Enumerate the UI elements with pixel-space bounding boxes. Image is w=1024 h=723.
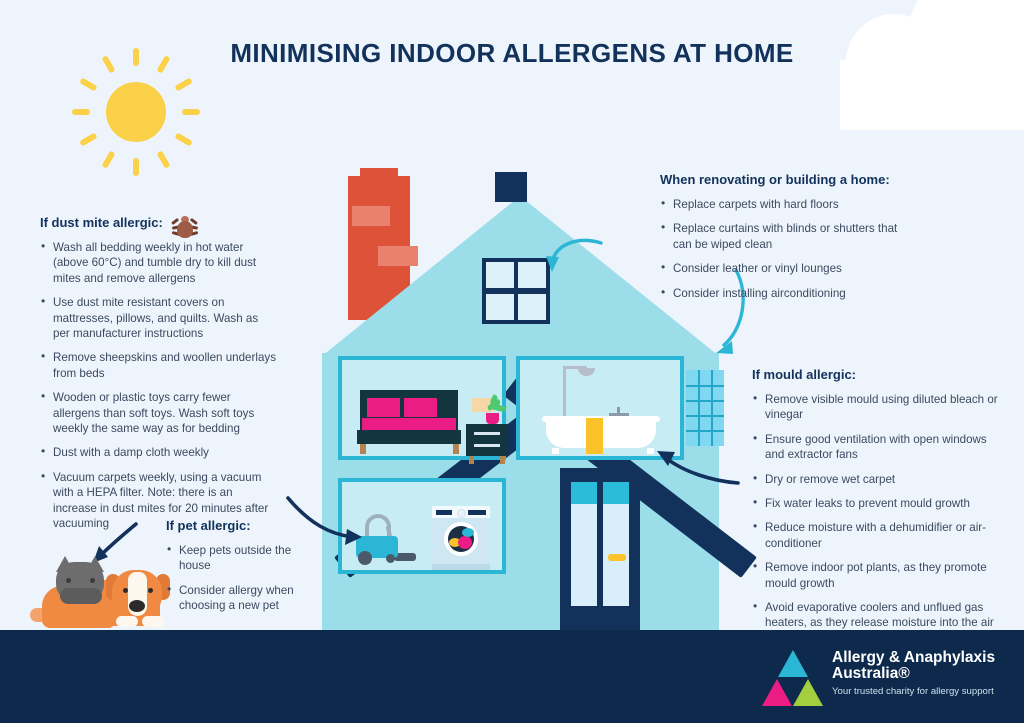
front-door xyxy=(560,468,640,630)
cat-eye xyxy=(66,578,71,583)
list-item: Fix water leaks to prevent mould growth xyxy=(752,496,1002,511)
list-item: Consider installing airconditioning xyxy=(660,286,910,301)
list-item: Consider leather or vinyl lounges xyxy=(660,261,910,276)
dust-mite-icon xyxy=(171,214,199,240)
washing-machine-button xyxy=(436,510,452,515)
door-glass-panel xyxy=(571,482,597,606)
pet-list: Keep pets outside the house Consider all… xyxy=(166,543,316,614)
cat-eye xyxy=(90,578,95,583)
list-item: Wash all bedding weekly in hot water (ab… xyxy=(40,240,278,286)
renovating-list: Replace carpets with hard floors Replace… xyxy=(660,197,910,301)
pillow xyxy=(367,398,400,417)
list-item: Remove indoor pot plants, as they promot… xyxy=(752,560,1002,591)
washing-machine-button xyxy=(468,510,486,515)
list-item: Replace curtains with blinds or shutters… xyxy=(660,221,910,252)
org-name-line1: Allergy & Anaphylaxis xyxy=(832,650,1024,666)
dust-mite-heading: If dust mite allergic: xyxy=(40,215,163,230)
nightstand xyxy=(466,424,508,456)
door-glass-panel xyxy=(603,482,629,606)
list-item: Ensure good ventilation with open window… xyxy=(752,432,1002,463)
logo-triangle-bottom-left xyxy=(762,679,792,706)
shower-pipe xyxy=(563,366,566,418)
vacuum-wheel xyxy=(386,554,395,563)
dog-nose xyxy=(129,600,145,612)
logo-triangle-bottom-right xyxy=(793,679,823,706)
vacuum-wheel xyxy=(358,551,372,565)
towel xyxy=(586,418,603,454)
dust-mite-list: Wash all bedding weekly in hot water (ab… xyxy=(40,240,278,532)
side-window xyxy=(686,370,724,446)
list-item: Consider allergy when choosing a new pet xyxy=(166,583,316,614)
list-item: Use dust mite resistant covers on mattre… xyxy=(40,295,278,341)
attic-window xyxy=(482,258,550,324)
nightstand-drawer xyxy=(474,432,500,435)
list-item: Keep pets outside the house xyxy=(166,543,316,574)
laundry-item xyxy=(458,536,472,549)
org-name-line2: Australia® xyxy=(832,666,1024,682)
list-item: Remove visible mould using diluted bleac… xyxy=(752,392,1002,423)
nightstand-leg xyxy=(500,456,505,464)
roof-apex xyxy=(495,172,527,202)
nightstand-leg xyxy=(469,456,474,464)
pet-heading: If pet allergic: xyxy=(166,518,316,533)
list-item: Reduce moisture with a dehumidifier or a… xyxy=(752,520,1002,551)
bed-leg xyxy=(360,444,366,454)
bed-headboard xyxy=(360,390,458,398)
dog-paw xyxy=(142,616,164,627)
dog-eye xyxy=(123,588,128,593)
list-item: Replace carpets with hard floors xyxy=(660,197,910,212)
renovating-heading: When renovating or building a home: xyxy=(660,172,910,187)
list-item: Dust with a damp cloth weekly xyxy=(40,445,278,460)
logo-triangle-top xyxy=(778,650,808,677)
list-item: Avoid evaporative coolers and unflued ga… xyxy=(752,600,1002,631)
door-handle xyxy=(608,554,626,561)
list-item: Wooden or plastic toys carry fewer aller… xyxy=(40,390,278,436)
bathtub-foot xyxy=(647,448,654,454)
plant-pot xyxy=(486,413,499,424)
pillow xyxy=(404,398,437,417)
mattress xyxy=(362,418,456,430)
mould-heading: If mould allergic: xyxy=(752,367,1002,382)
nightstand-drawer xyxy=(474,444,500,447)
pets-illustration xyxy=(28,548,176,630)
sun-icon xyxy=(72,48,200,176)
dog-eye xyxy=(148,588,153,593)
section-mould: If mould allergic: Remove visible mould … xyxy=(752,367,1002,640)
section-renovating: When renovating or building a home: Repl… xyxy=(660,172,910,310)
bathtub-foot xyxy=(552,448,559,454)
org-tagline: Your trusted charity for allergy support xyxy=(832,686,1024,697)
cat-muzzle xyxy=(60,588,102,604)
bed-base xyxy=(357,430,461,444)
washing-machine-base xyxy=(432,564,490,570)
washing-machine-dial xyxy=(457,509,466,518)
laundry-item xyxy=(462,528,474,537)
mould-list: Remove visible mould using diluted bleac… xyxy=(752,392,1002,631)
logo-wordmark: Allergy & Anaphylaxis Australia® Your tr… xyxy=(832,650,1024,697)
cloud-base xyxy=(840,60,1024,130)
triangles-logo xyxy=(762,650,824,708)
dog-paw xyxy=(116,616,138,627)
infographic-canvas: MINIMISING INDOOR ALLERGENS AT HOME xyxy=(0,0,1024,723)
bed-leg xyxy=(453,444,459,454)
section-dust-mite: If dust mite allergic: Wash all bedding … xyxy=(40,214,278,541)
list-item: Remove sheepskins and woollen underlays … xyxy=(40,350,278,381)
list-item: Dry or remove wet carpet xyxy=(752,472,1002,487)
section-pet: If pet allergic: Keep pets outside the h… xyxy=(166,518,316,623)
